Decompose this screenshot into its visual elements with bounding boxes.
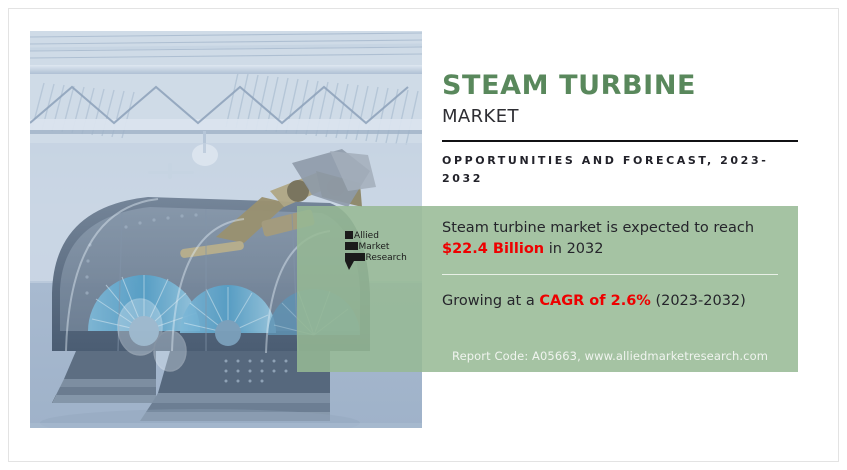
logo-line-2-text: Market (423, 228, 424, 229)
market-size-value: $22.4 Billion (442, 241, 544, 257)
report-cover: STEAM TURBINE MARKET OPPORTUNITIES AND F… (0, 0, 847, 470)
market-size-prefix: Steam turbine market is expected to reac… (442, 220, 754, 236)
logo-line-2: Market (359, 242, 390, 252)
page-title: STEAM TURBINE MARKET (442, 72, 798, 127)
cagr-statement: Growing at a CAGR of 2.6% (2023-2032) (442, 291, 787, 312)
logo-line-3-text: Research (423, 228, 424, 229)
logo-line-3: Research (366, 253, 407, 263)
title-sub: MARKET (442, 106, 798, 127)
cagr-prefix: Growing at a (442, 293, 539, 309)
cagr-value: CAGR of 2.6% (539, 293, 651, 309)
report-code: Report Code: A05663, www.alliedmarketres… (452, 349, 768, 363)
title-divider (442, 140, 798, 142)
cagr-suffix: (2023-2032) (651, 293, 746, 309)
market-size-suffix: in 2032 (544, 241, 603, 257)
market-size-statement: Steam turbine market is expected to reac… (442, 218, 787, 259)
logo-line-1: Allied (354, 231, 379, 241)
panel-divider (442, 274, 778, 275)
title-main: STEAM TURBINE (442, 72, 798, 100)
forecast-subtitle: OPPORTUNITIES AND FORECAST, 2023-2032 (442, 152, 782, 187)
logo-line-1-text: Allied (423, 228, 424, 229)
logo-mark: Allied Market Research (343, 228, 423, 272)
highlights-panel: Allied Market Research Allied Market Res… (297, 206, 798, 372)
allied-market-research-logo: Allied Market Research Allied Market Res… (343, 228, 423, 272)
